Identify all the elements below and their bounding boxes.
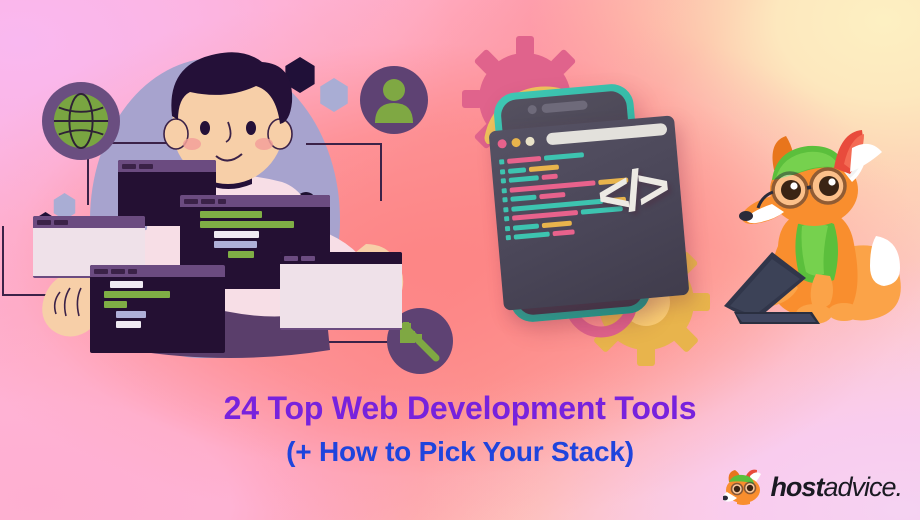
code-window-titlebar	[118, 160, 216, 172]
code-window-titlebar	[180, 195, 330, 207]
code-bar	[200, 221, 294, 228]
code-bar	[200, 211, 262, 218]
code-bar	[110, 281, 143, 288]
code-window-4	[90, 265, 225, 353]
code-brackets-icon: </>	[595, 157, 669, 225]
code-window-titlebar	[90, 265, 225, 277]
fox-mascot-illustration	[716, 128, 916, 343]
code-bar	[214, 241, 257, 248]
code-bar	[116, 311, 146, 318]
fox-logo-icon	[723, 468, 763, 506]
developer-illustration	[30, 30, 430, 370]
phone-code-illustration: </>	[462, 40, 712, 380]
window-close-dot[interactable]	[497, 138, 507, 148]
logo-advice: advice	[823, 472, 895, 502]
code-window-body	[118, 172, 216, 180]
code-bar	[104, 301, 127, 308]
window-maximize-dot[interactable]	[525, 136, 535, 146]
logo-dot: .	[895, 472, 902, 502]
code-window-body	[90, 277, 225, 332]
code-window-titlebar	[33, 216, 145, 228]
headline-line-2: (+ How to Pick Your Stack)	[0, 433, 920, 471]
logo-wordmark: hostadvice.	[770, 472, 902, 503]
headline-line-1: 24 Top Web Development Tools	[0, 388, 920, 429]
headline-block: 24 Top Web Development Tools (+ How to P…	[0, 388, 920, 471]
banner-root: </>	[0, 0, 920, 520]
logo-host: host	[770, 472, 823, 502]
code-bar	[104, 291, 170, 298]
code-window-body	[280, 264, 402, 328]
code-editor-window: </>	[489, 115, 690, 311]
code-bar	[116, 321, 141, 328]
code-window-titlebar	[280, 252, 402, 264]
window-minimize-dot[interactable]	[511, 137, 521, 147]
code-bar	[214, 231, 259, 238]
hostadvice-logo[interactable]: hostadvice.	[723, 468, 902, 506]
fox-mascot	[716, 128, 916, 343]
phone-camera-icon	[527, 105, 537, 115]
code-window-5	[280, 252, 402, 330]
code-bar	[228, 251, 254, 258]
